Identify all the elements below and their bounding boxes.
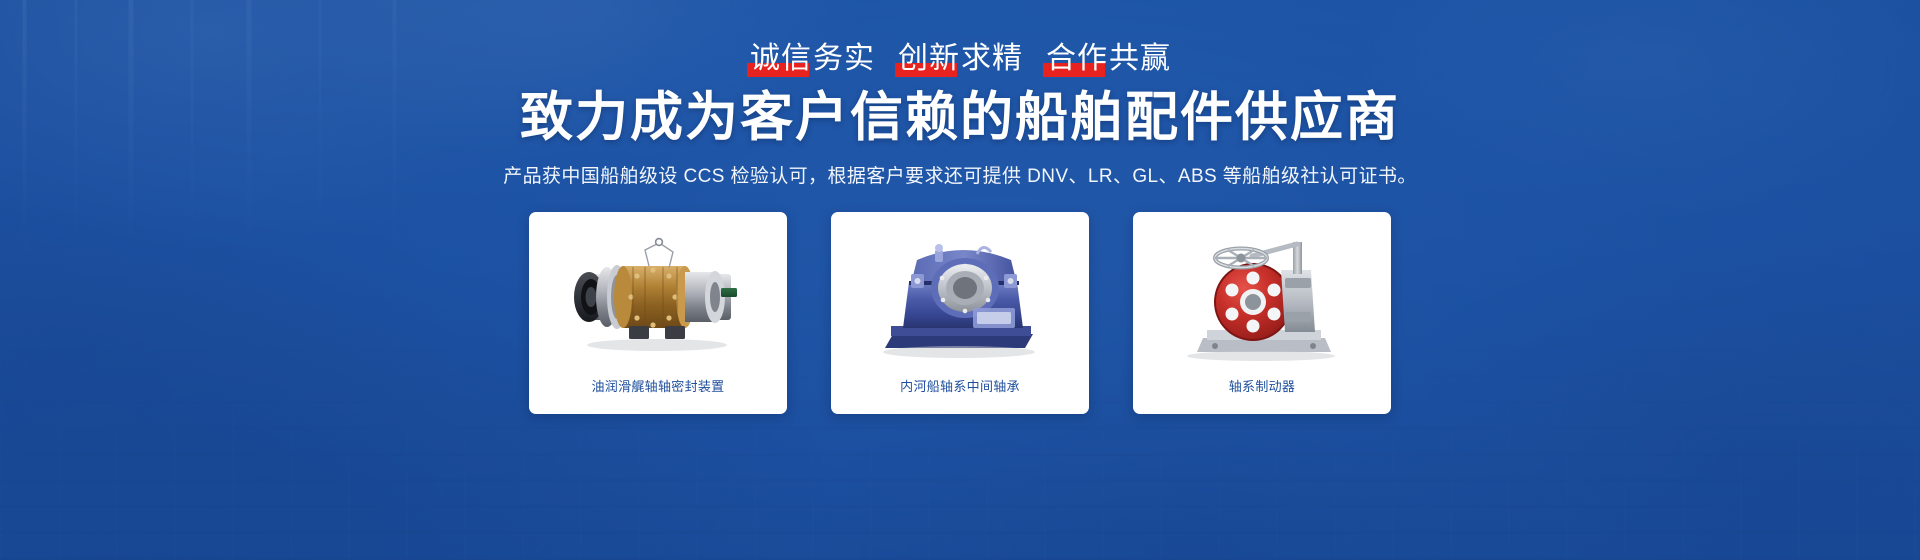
product-card[interactable]: 轴系制动器 [1133,212,1391,414]
oil-lubricated-stern-shaft-seal-photo [545,226,771,366]
product-card[interactable]: 油润滑艉轴轴密封装置 [529,212,787,414]
banner-subtitle: 产品获中国船舶级设 CCS 检验认可，根据客户要求还可提供 DNV、LR、GL、… [503,163,1417,192]
shaft-brake-photo [1149,226,1375,366]
hero-banner: 诚信务实 创新求精 合作共赢 致力成为客户信赖的船舶配件供应商 产品获中国船舶级… [0,0,1920,560]
banner-headline: 致力成为客户信赖的船舶配件供应商 [520,88,1400,147]
product-card-caption: 内河船轴系中间轴承 [900,376,1020,395]
banner-tagline: 诚信务实 创新求精 合作共赢 [749,44,1171,74]
tagline-highlight-3: 合作 [1045,44,1109,74]
tagline-rest-3: 共赢 [1109,42,1171,75]
product-card-caption: 油润滑艉轴轴密封装置 [591,376,724,395]
tagline-rest-2: 求精 [961,42,1023,75]
inland-vessel-intermediate-bearing-photo [847,226,1073,366]
tagline-highlight-1: 诚信 [749,44,813,74]
tagline-highlight-2: 创新 [897,44,961,74]
tagline-rest-1: 务实 [813,42,875,75]
banner-content: 诚信务实 创新求精 合作共赢 致力成为客户信赖的船舶配件供应商 产品获中国船舶级… [0,0,1920,560]
tagline-segment-2: 创新求精 [897,44,1023,74]
product-card-caption: 轴系制动器 [1229,376,1296,395]
product-card[interactable]: 内河船轴系中间轴承 [831,212,1089,414]
tagline-segment-1: 诚信务实 [749,44,875,74]
product-card-list: 油润滑艉轴轴密封装置 [529,212,1391,414]
tagline-segment-3: 合作共赢 [1045,44,1171,74]
